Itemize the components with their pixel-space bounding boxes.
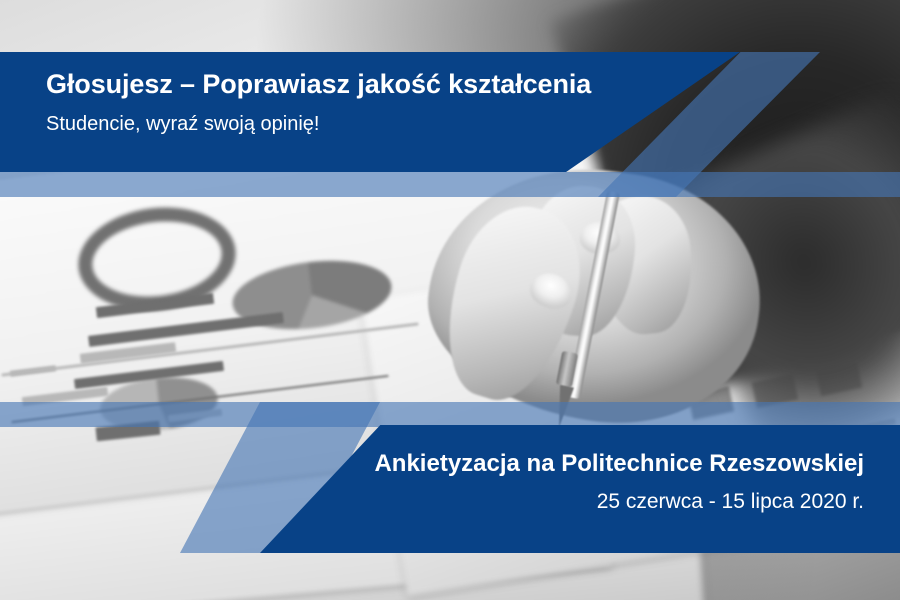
top-accent-band: [0, 172, 900, 197]
top-banner-text: Głosujesz – Poprawiasz jakość kształceni…: [46, 68, 591, 136]
bottom-accent-band: [0, 402, 900, 427]
event-headline: Ankietyzacja na Politechnice Rzeszowskie…: [374, 450, 864, 479]
banner-subtitle: Studencie, wyraź swoją opinię!: [46, 112, 591, 136]
event-dates: 25 czerwca - 15 lipca 2020 r.: [374, 489, 864, 514]
bottom-banner-text: Ankietyzacja na Politechnice Rzeszowskie…: [374, 450, 864, 514]
promo-banner: Głosujesz – Poprawiasz jakość kształceni…: [0, 0, 900, 600]
banner-title: Głosujesz – Poprawiasz jakość kształceni…: [46, 68, 591, 100]
